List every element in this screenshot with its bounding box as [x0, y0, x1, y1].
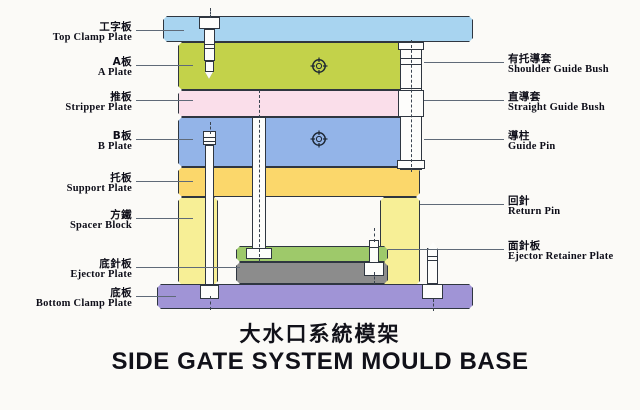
leader-ejector-plate: [136, 267, 240, 268]
label-ejector-retainer-plate-en: Ejector Retainer Plate: [508, 252, 613, 263]
part-cap-screw-shank: [204, 29, 215, 61]
label-shoulder-guide-bush: 有托導套 Shoulder Guide Bush: [508, 54, 609, 75]
label-stripper-plate-en: Stripper Plate: [0, 103, 132, 114]
leader-b-plate: [136, 139, 193, 140]
label-guide-pin-en: Guide Pin: [508, 142, 555, 153]
label-support-plate: 托板 Support Plate: [0, 173, 132, 194]
return-pin-right-line-1: [369, 247, 379, 248]
part-bottom-screw-head: [422, 284, 443, 299]
label-bottom-clamp-plate: 底板 Bottom Clamp Plate: [0, 288, 132, 309]
label-b-plate-en: B Plate: [0, 142, 132, 153]
leader-spacer-block: [136, 218, 193, 219]
diagram-canvas: 工字板 Top Clamp Plate A板 A Plate 推板 Stripp…: [0, 0, 640, 410]
label-guide-pin: 導柱 Guide Pin: [508, 131, 555, 152]
label-ejector-retainer-plate: 面針板 Ejector Retainer Plate: [508, 241, 613, 262]
leader-ejector-retainer-plate: [388, 249, 504, 250]
target-symbol-b-plate: [310, 130, 328, 148]
leader-straight-guide-bush: [424, 100, 504, 101]
leader-bottom-clamp-plate: [136, 296, 176, 297]
label-spacer-block-en: Spacer Block: [0, 221, 132, 232]
label-spacer-block: 方鐵 Spacer Block: [0, 210, 132, 231]
label-top-clamp-plate-en: Top Clamp Plate: [0, 33, 132, 44]
leader-support-plate: [136, 181, 193, 182]
return-pin-left-line-2: [203, 141, 216, 142]
bottom-screw-line-2: [427, 260, 438, 261]
cap-screw-centerline: [210, 8, 211, 18]
leader-shoulder-guide-bush: [424, 62, 504, 63]
label-return-pin: 回針 Return Pin: [508, 196, 560, 217]
label-a-plate-en: A Plate: [0, 68, 132, 79]
title-english: SIDE GATE SYSTEM MOULD BASE: [0, 348, 640, 376]
return-pin-left-line-1: [203, 137, 216, 138]
leader-guide-pin: [424, 139, 504, 140]
label-straight-guide-bush: 直導套 Straight Guide Bush: [508, 92, 605, 113]
label-ejector-plate-en: Ejector Plate: [0, 270, 132, 281]
return-pin-left-centerline-bottom: [210, 296, 211, 310]
label-straight-guide-bush-en: Straight Guide Bush: [508, 103, 605, 114]
bottom-screw-centerline: [433, 299, 434, 311]
part-cap-screw-thread: [205, 61, 214, 72]
return-pin-right-centerline-bottom: [374, 272, 375, 284]
center-sleeve-centerline: [259, 90, 260, 262]
part-bottom-screw-shank: [427, 248, 438, 284]
part-return-pin-left-shaft: [205, 145, 214, 285]
label-b-plate: B板 B Plate: [0, 131, 132, 152]
cap-screw-line-2: [204, 48, 215, 49]
part-cap-screw-tip: [205, 72, 213, 79]
label-shoulder-guide-bush-en: Shoulder Guide Bush: [508, 65, 609, 76]
label-bottom-clamp-plate-en: Bottom Clamp Plate: [0, 299, 132, 310]
part-cap-screw-head: [199, 17, 220, 29]
leader-return-pin: [420, 204, 504, 205]
label-return-pin-en: Return Pin: [508, 207, 560, 218]
return-pin-right-centerline: [374, 228, 375, 242]
part-support-plate: [178, 167, 420, 197]
part-stripper-plate: [178, 90, 420, 117]
part-bottom-screw-tip: [428, 242, 438, 249]
leader-stripper-plate: [136, 100, 193, 101]
label-top-clamp-plate: 工字板 Top Clamp Plate: [0, 22, 132, 43]
guide-pin-centerline: [411, 40, 412, 172]
title-chinese: 大水口系統模架: [0, 318, 640, 348]
label-ejector-plate: 底針板 Ejector Plate: [0, 259, 132, 280]
bottom-screw-line-1: [427, 256, 438, 257]
label-stripper-plate: 推板 Stripper Plate: [0, 92, 132, 113]
label-support-plate-en: Support Plate: [0, 184, 132, 195]
leader-a-plate: [136, 65, 193, 66]
return-pin-left-centerline: [210, 122, 211, 134]
leader-top-clamp-plate: [136, 30, 184, 31]
label-a-plate: A板 A Plate: [0, 57, 132, 78]
cap-screw-line-1: [204, 44, 215, 45]
target-symbol-a-plate: [310, 57, 328, 75]
